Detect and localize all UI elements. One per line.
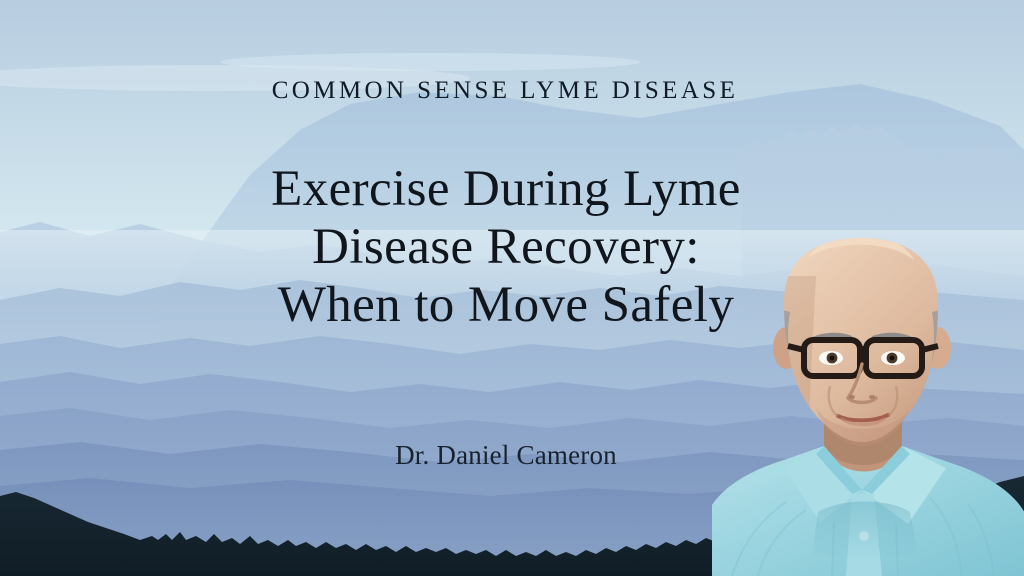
nostril-left: [849, 395, 855, 399]
portrait-illustration: [712, 236, 1024, 576]
temple-left: [788, 346, 804, 350]
shirt-chest-shadow: [812, 502, 918, 557]
cloud-band-2: [220, 53, 640, 71]
nostril-right: [869, 395, 875, 399]
temple-right: [922, 346, 938, 350]
author-portrait: [712, 236, 1024, 576]
pupil-left-center: [830, 356, 835, 361]
glasses-bridge: [860, 349, 866, 352]
pupil-right-center: [890, 356, 895, 361]
video-thumbnail-card: COMMON SENSE LYME DISEASE Exercise Durin…: [0, 0, 1024, 576]
